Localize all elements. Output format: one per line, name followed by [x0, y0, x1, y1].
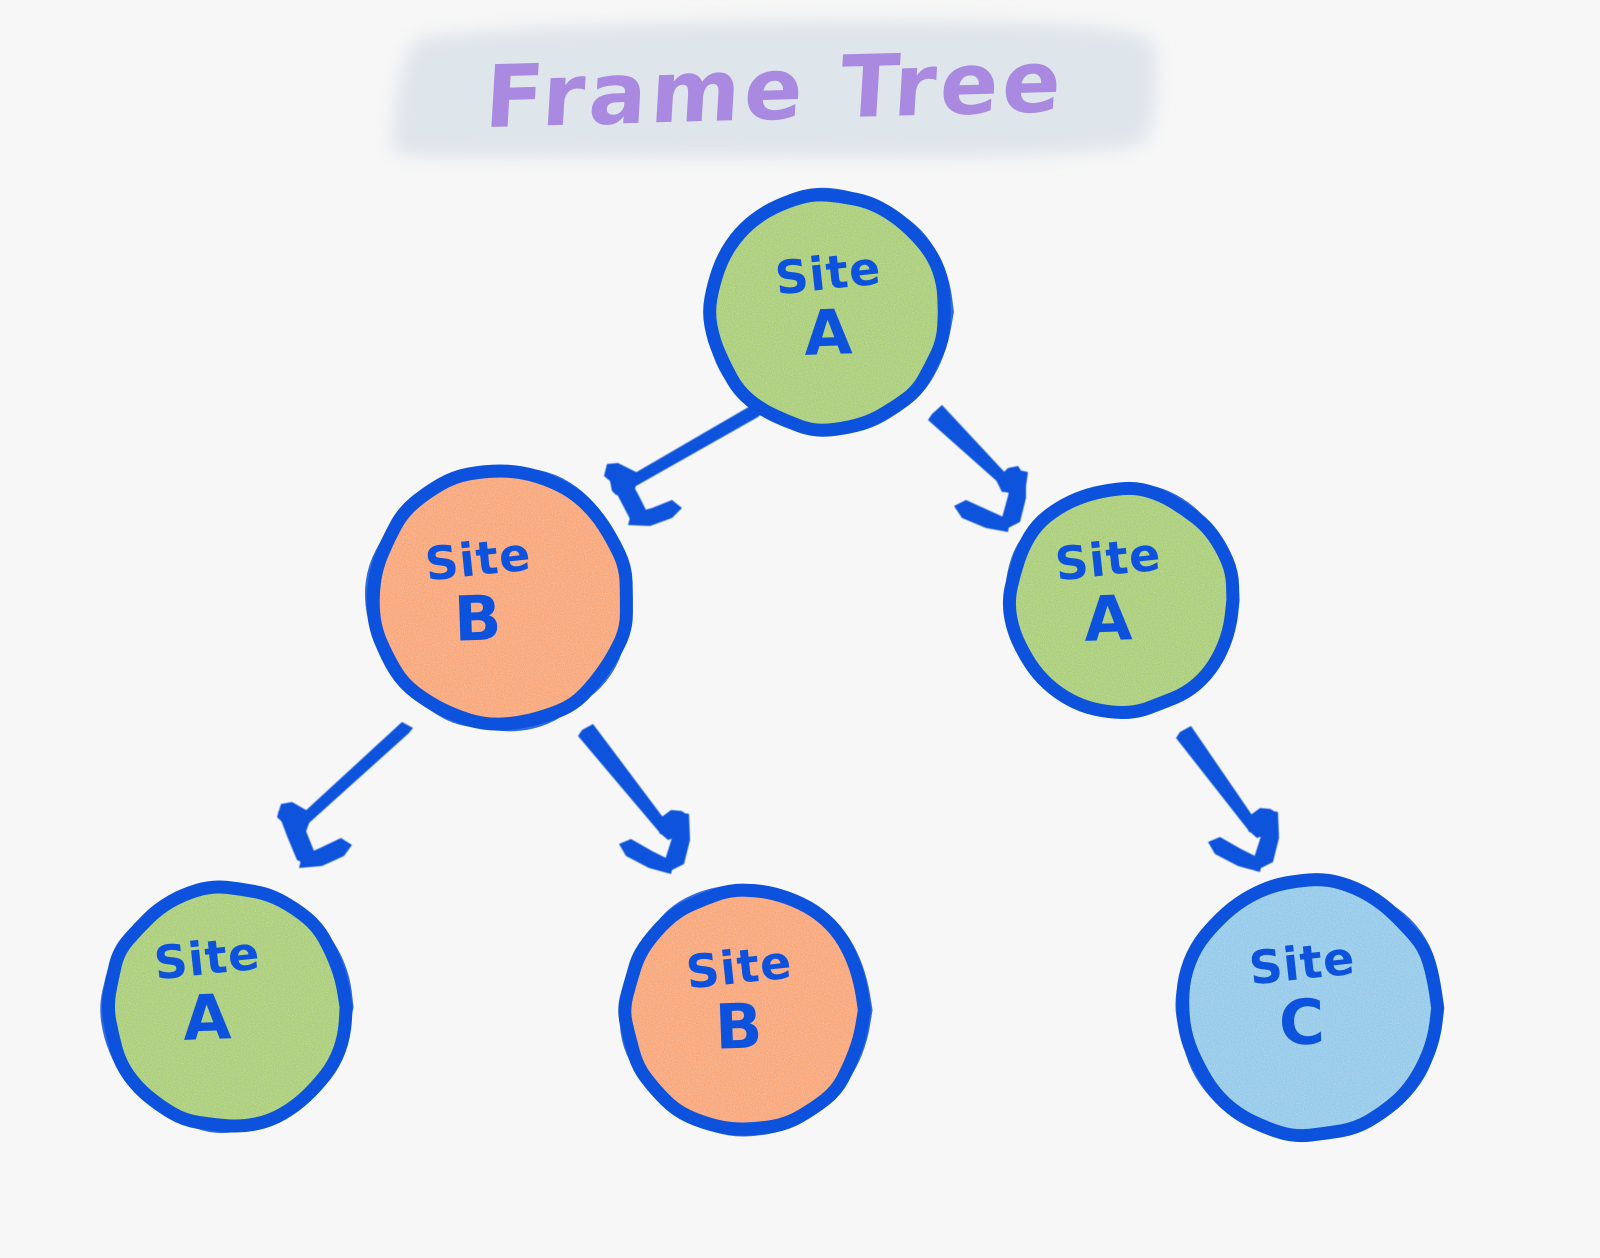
node-hit-leaf-middle[interactable] [625, 890, 865, 1130]
diagram-canvas: Frame Tree SiteASiteBSiteASiteASiteBSite… [0, 0, 1600, 1258]
edge-site-b-to-site-a-leaf [277, 722, 413, 868]
edge-site-a-right-to-site-c [1176, 726, 1279, 872]
node-hit-leaf-left[interactable] [107, 887, 347, 1127]
edge-root-to-site-b [604, 405, 763, 526]
node-hit-mid-right[interactable] [1010, 488, 1234, 712]
page-title-text: Frame Tree [421, 10, 1129, 170]
edge-site-b-to-site-b-leaf [578, 724, 690, 874]
page-title: Frame Tree [370, 14, 1170, 164]
node-hit-mid-left[interactable] [372, 470, 628, 726]
node-hit-root[interactable] [710, 194, 946, 430]
node-hit-leaf-right[interactable] [1182, 880, 1438, 1136]
edge-root-to-site-a-right [928, 405, 1028, 532]
